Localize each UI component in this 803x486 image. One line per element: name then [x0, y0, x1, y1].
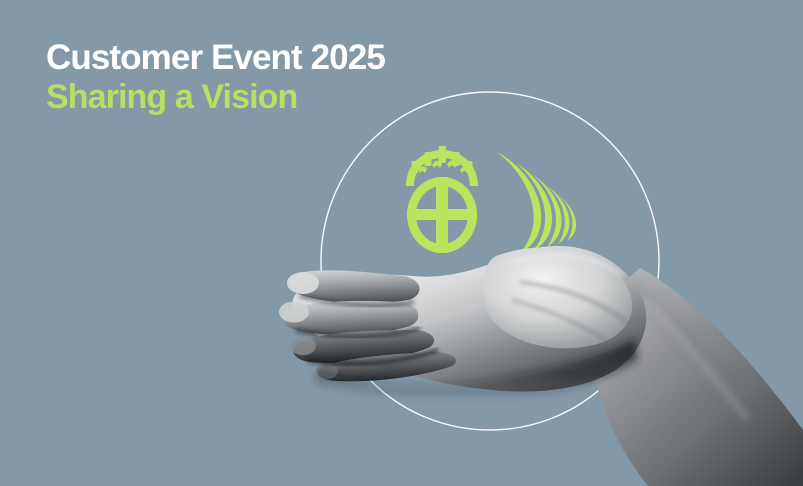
headline-block: Customer Event 2025 Sharing a Vision — [46, 40, 385, 114]
page-subtitle: Sharing a Vision — [46, 80, 385, 114]
promo-banner: Customer Event 2025 Sharing a Vision — [0, 0, 803, 486]
page-title: Customer Event 2025 — [46, 40, 385, 75]
